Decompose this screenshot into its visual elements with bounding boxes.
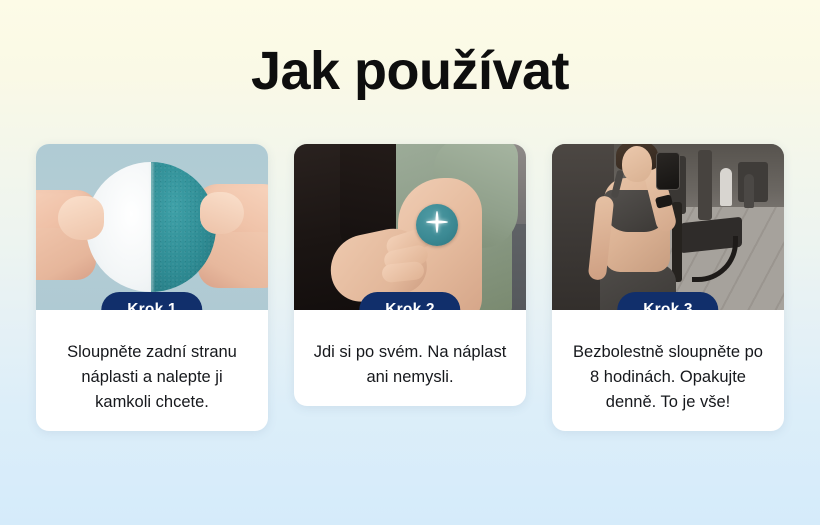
step-2-image: Krok 2: [294, 144, 526, 310]
page-title: Jak používat: [0, 38, 820, 104]
right-thumb-shape: [200, 192, 244, 234]
step-1-text: Sloupněte zadní stranu náplasti a nalept…: [52, 340, 252, 415]
step-card-2[interactable]: Krok 2 Jdi si po svém. Na náplast ani ne…: [294, 144, 526, 406]
step-2-text: Jdi si po svém. Na náplast ani nemysli.: [310, 340, 510, 390]
step-badge-1: Krok 1: [101, 292, 202, 310]
step-3-body: Bezbolestně sloupněte po 8 hodinách. Opa…: [552, 310, 784, 431]
step-card-1[interactable]: Krok 1 Sloupněte zadní stranu náplasti a…: [36, 144, 268, 431]
patch-seam: [150, 162, 154, 292]
step-card-3[interactable]: Krok 3 Bezbolestně sloupněte po 8 hodiná…: [552, 144, 784, 431]
sparkle-icon: [426, 211, 448, 233]
background-person: [720, 168, 732, 206]
patch-graphic: [86, 162, 216, 292]
left-thumb-shape: [58, 196, 104, 240]
step-1-body: Sloupněte zadní stranu náplasti a nalept…: [36, 310, 268, 431]
step-2-body: Jdi si po svém. Na náplast ani nemysli.: [294, 310, 526, 406]
step-3-text: Bezbolestně sloupněte po 8 hodinách. Opa…: [568, 340, 768, 415]
phone-shape: [656, 152, 680, 190]
head-shape: [622, 146, 652, 182]
background-person: [744, 174, 754, 208]
step-badge-2: Krok 2: [359, 292, 460, 310]
step-1-image: Krok 1: [36, 144, 268, 310]
steps-card-row: Krok 1 Sloupněte zadní stranu náplasti a…: [36, 144, 784, 431]
step-3-image: Krok 3: [552, 144, 784, 310]
step-badge-3: Krok 3: [617, 292, 718, 310]
applied-patch-graphic: [416, 204, 458, 246]
how-to-use-page: Jak používat Krok 1 Sloupněte zadní stra…: [0, 0, 820, 525]
gym-equipment: [698, 150, 712, 220]
